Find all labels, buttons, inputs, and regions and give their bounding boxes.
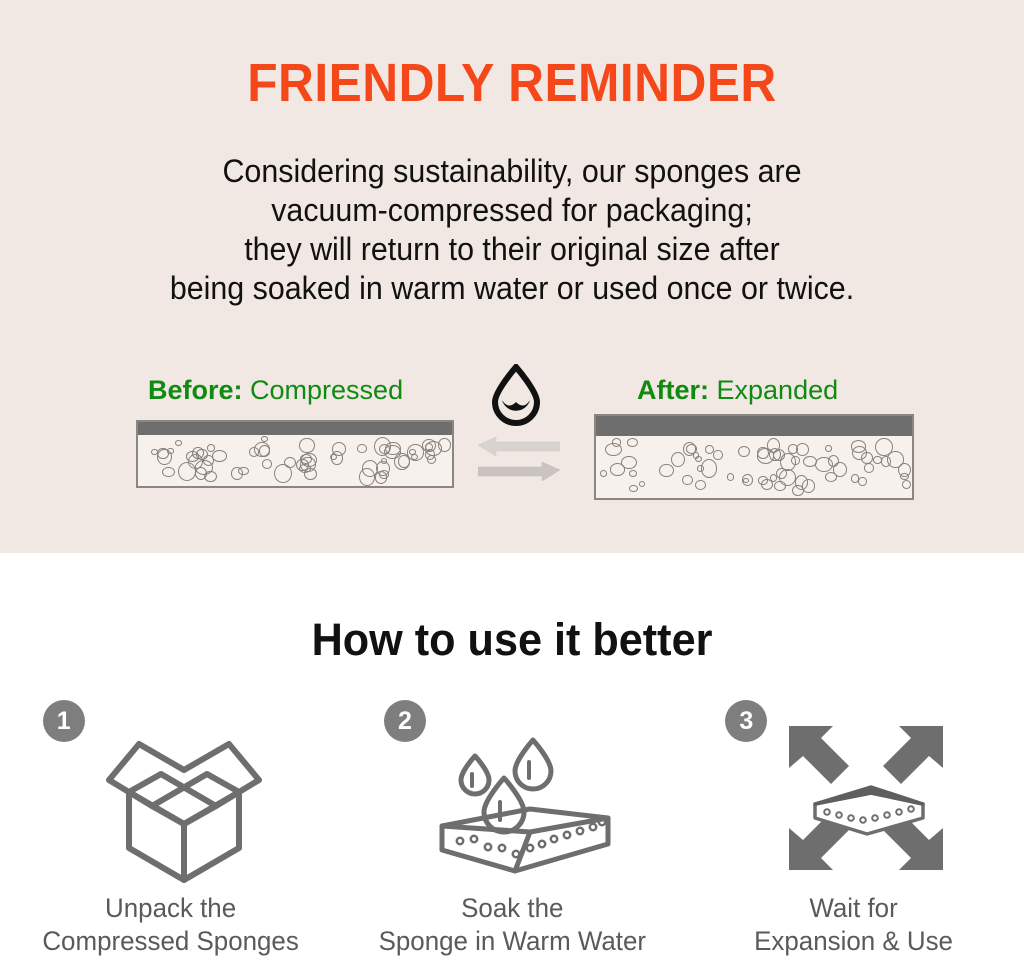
sponge-pore	[898, 463, 911, 477]
sponge-pore	[697, 465, 704, 472]
sponge-pore	[605, 443, 622, 457]
sponge-pore	[157, 449, 172, 465]
sponge-pore	[196, 449, 207, 460]
sponge-pore	[713, 450, 723, 461]
sponge-pore	[362, 460, 378, 477]
step-1: 1 Unpack the C	[0, 696, 341, 967]
open-box-icon	[89, 708, 279, 893]
arrow-left-icon	[478, 437, 560, 456]
after-label-rest: Expanded	[717, 375, 839, 405]
sponge-pore	[299, 438, 314, 453]
sponge-pore	[162, 467, 175, 478]
sponge-pore	[259, 445, 271, 456]
arrow-up-right-icon	[883, 726, 943, 784]
sponge-pore	[629, 470, 637, 477]
step-number-badge: 2	[384, 700, 426, 742]
sponge-pore	[300, 454, 312, 464]
water-drops-on-sponge-icon	[430, 708, 620, 893]
after-label-strong: After:	[637, 375, 709, 405]
sponge-pore	[629, 485, 637, 492]
sponge-pore	[864, 463, 875, 473]
step-1-art: 1	[41, 696, 301, 886]
exchange-arrows-icon	[478, 437, 560, 481]
sponge-pore	[175, 440, 182, 446]
sponge-pore	[774, 481, 785, 491]
sponge-pore	[212, 450, 227, 462]
sponge-pore	[776, 468, 787, 480]
step-1-caption: Unpack the Compressed Sponges	[42, 892, 298, 958]
step-2: 2	[341, 696, 682, 967]
step-number-badge: 3	[725, 700, 767, 742]
intro-line-2: vacuum-compressed for packaging;	[26, 191, 999, 230]
sponge-pore	[331, 451, 343, 464]
sponge-pore	[825, 445, 832, 451]
sponge-pore	[600, 470, 607, 477]
sponge-pore	[682, 475, 693, 485]
step-2-caption-line-1: Soak the	[378, 892, 645, 925]
compressed-sponge-illustration	[136, 420, 454, 488]
promo-infographic: FRIENDLY REMINDER Considering sustainabi…	[0, 0, 1024, 967]
sponge-pore	[796, 443, 809, 457]
sponge-pore	[274, 464, 292, 483]
sponge-pore	[802, 479, 816, 493]
step-1-caption-line-2: Compressed Sponges	[42, 925, 298, 958]
sponge-pore	[705, 445, 714, 454]
arrow-right-icon	[478, 462, 560, 481]
step-1-caption-line-1: Unpack the	[42, 892, 298, 925]
before-label-strong: Before:	[148, 375, 243, 405]
sponge-pore	[727, 473, 734, 480]
sponge-pore	[357, 444, 368, 453]
step-3-art: 3	[723, 696, 983, 886]
sponge-pore	[695, 456, 702, 462]
intro-line-1: Considering sustainability, our sponges …	[26, 152, 999, 191]
step-3: 3	[683, 696, 1024, 967]
sponge-pore	[407, 444, 424, 461]
step-2-caption-line-2: Sponge in Warm Water	[378, 925, 645, 958]
sponge-pore	[833, 462, 847, 477]
howto-heading: How to use it better	[20, 614, 1003, 666]
sponge-top-band	[596, 416, 912, 436]
sponge-pore	[757, 447, 768, 459]
sponge-pore	[639, 481, 645, 487]
sponge-pore	[902, 480, 911, 489]
intro-line-3: they will return to their original size …	[26, 230, 999, 269]
sponge-pore	[438, 438, 451, 452]
intro-line-4: being soaked in warm water or used once …	[26, 269, 999, 308]
sponge-pore	[610, 463, 625, 475]
step-3-caption-line-1: Wait for	[754, 892, 953, 925]
step-3-caption: Wait for Expansion & Use	[754, 892, 953, 958]
sponge-pore	[858, 477, 866, 486]
step-2-caption: Soak the Sponge in Warm Water	[378, 892, 645, 958]
after-label: After: Expanded	[637, 375, 838, 406]
sponge-pore	[695, 480, 706, 490]
sponge-pore	[627, 438, 638, 447]
arrow-up-left-icon	[789, 726, 849, 784]
step-3-caption-line-2: Expansion & Use	[754, 925, 953, 958]
sponge-pore	[851, 474, 860, 482]
page-title: FRIENDLY REMINDER	[41, 52, 983, 114]
before-label: Before: Compressed	[148, 375, 403, 406]
sponge-pore	[379, 470, 389, 479]
expanding-arrows-sponge-icon	[771, 708, 961, 893]
sponge-pore	[238, 467, 248, 475]
sponge-pore	[671, 452, 685, 467]
sponge-pore	[261, 436, 268, 442]
expanded-sponge-illustration	[594, 414, 914, 500]
sponge-pore	[788, 444, 799, 453]
before-label-rest: Compressed	[250, 375, 403, 405]
sponge-pore	[659, 464, 674, 478]
step-number-badge: 1	[43, 700, 85, 742]
water-drop-icon	[487, 364, 545, 426]
sponge-pore	[792, 485, 804, 496]
howto-steps: 1 Unpack the C	[0, 696, 1024, 967]
sponge-pore	[738, 446, 750, 457]
sponge-pore	[881, 456, 891, 467]
sponge-pore	[758, 476, 768, 484]
sponge-pore	[427, 455, 437, 464]
sponge-pore	[151, 449, 158, 455]
step-2-art: 2	[382, 696, 642, 886]
sponge-top-band	[138, 422, 452, 435]
sponge-pore	[262, 459, 273, 469]
sponge-pore	[178, 462, 196, 481]
intro-paragraph: Considering sustainability, our sponges …	[26, 152, 999, 308]
